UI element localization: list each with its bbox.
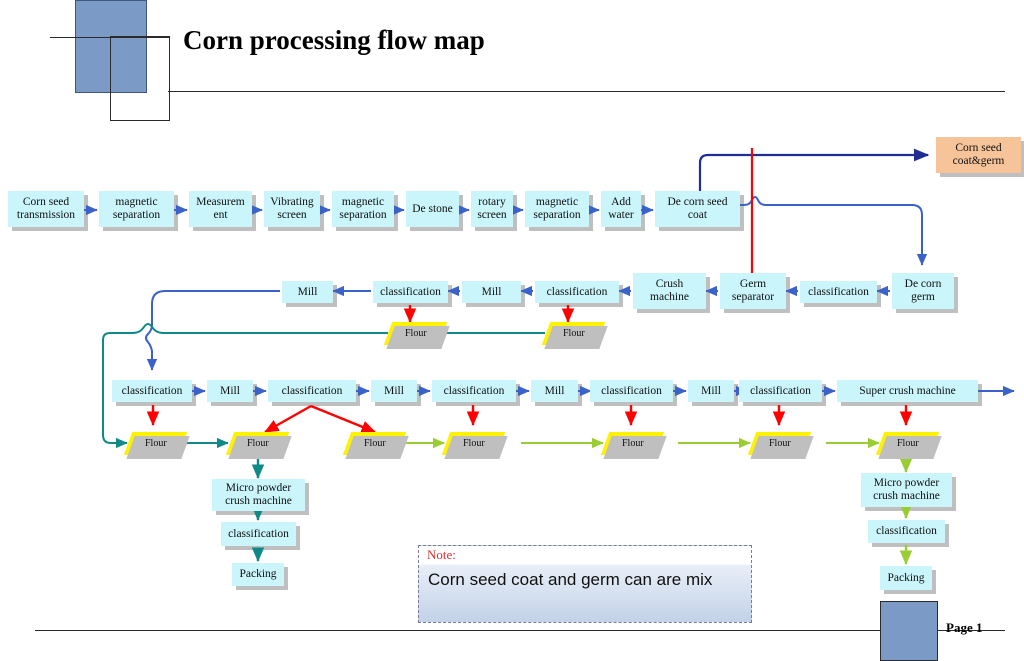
flour-r3-3[interactable]: Flour — [343, 432, 406, 455]
node-rotary-screen[interactable]: rotary screen — [471, 191, 513, 227]
node-classification-r3-5[interactable]: classification — [739, 380, 822, 402]
flour-label: Flour — [769, 438, 791, 449]
node-micro-powder-crush-machine-left[interactable]: Micro powder crush machine — [212, 479, 305, 511]
flour-r2-left[interactable]: Flour — [384, 322, 447, 345]
node-mill-r3-2[interactable]: Mill — [371, 380, 417, 402]
flour-r3-1[interactable]: Flour — [124, 432, 187, 455]
flour-label: Flour — [563, 328, 585, 339]
node-measurement[interactable]: Measurem ent — [189, 191, 252, 227]
flour-r3-4[interactable]: Flour — [442, 432, 505, 455]
node-magnetic-separation-3[interactable]: magnetic separation — [525, 191, 589, 227]
node-corn-seed-transmission[interactable]: Corn seed transmission — [8, 191, 84, 227]
node-mill-r3-1[interactable]: Mill — [207, 380, 253, 402]
node-mill-r2-1[interactable]: Mill — [462, 281, 521, 303]
node-super-crush-machine[interactable]: Super crush machine — [837, 380, 978, 402]
node-micro-powder-crush-machine-right[interactable]: Micro powder crush machine — [861, 473, 952, 507]
diagram-canvas: Corn processing flow map Page 1 — [0, 0, 1024, 661]
flour-label: Flour — [405, 328, 427, 339]
node-classification-right[interactable]: classification — [868, 520, 945, 543]
node-packing-right[interactable]: Packing — [880, 566, 932, 590]
node-packing-left[interactable]: Packing — [232, 563, 284, 586]
node-de-stone[interactable]: De stone — [406, 191, 459, 227]
node-classification-r2-2[interactable]: classification — [535, 281, 619, 303]
node-magnetic-separation-2[interactable]: magnetic separation — [332, 191, 394, 227]
flour-r3-2[interactable]: Flour — [226, 432, 289, 455]
flour-label: Flour — [897, 438, 919, 449]
flour-label: Flour — [247, 438, 269, 449]
node-classification-r3-4[interactable]: classification — [590, 380, 673, 402]
node-classification-r2-3[interactable]: classification — [373, 281, 448, 303]
node-crush-machine[interactable]: Crush machine — [633, 273, 706, 309]
flour-label: Flour — [364, 438, 386, 449]
flour-r2-right[interactable]: Flour — [542, 322, 605, 345]
flour-r3-5[interactable]: Flour — [601, 432, 664, 455]
note-text: Corn seed coat and germ can are mix — [428, 570, 712, 590]
node-vibrating-screen[interactable]: Vibrating screen — [264, 191, 320, 227]
flour-r3-7[interactable]: Flour — [876, 432, 939, 455]
node-mill-r3-4[interactable]: Mill — [688, 380, 734, 402]
flour-r3-6[interactable]: Flour — [748, 432, 811, 455]
node-de-corn-seed-coat[interactable]: De corn seed coat — [655, 191, 740, 227]
node-corn-seed-coat-germ[interactable]: Corn seed coat&germ — [936, 137, 1021, 173]
note-label: Note: — [427, 547, 456, 563]
node-classification-r3-3[interactable]: classification — [432, 380, 516, 402]
node-mill-r3-3[interactable]: Mill — [531, 380, 578, 402]
node-germ-separator[interactable]: Germ separator — [720, 273, 786, 309]
node-classification-r3-2[interactable]: classification — [268, 380, 356, 402]
flour-label: Flour — [145, 438, 167, 449]
node-add-water[interactable]: Add water — [601, 191, 641, 227]
node-mill-r2-2[interactable]: Mill — [282, 281, 333, 303]
node-classification-left[interactable]: classification — [221, 522, 296, 546]
node-classification-r2-1[interactable]: classification — [800, 281, 877, 303]
node-de-corn-germ[interactable]: De corn germ — [892, 273, 954, 309]
node-classification-r3-1[interactable]: classification — [112, 380, 192, 402]
node-magnetic-separation-1[interactable]: magnetic separation — [99, 191, 174, 227]
flour-label: Flour — [463, 438, 485, 449]
flour-label: Flour — [622, 438, 644, 449]
